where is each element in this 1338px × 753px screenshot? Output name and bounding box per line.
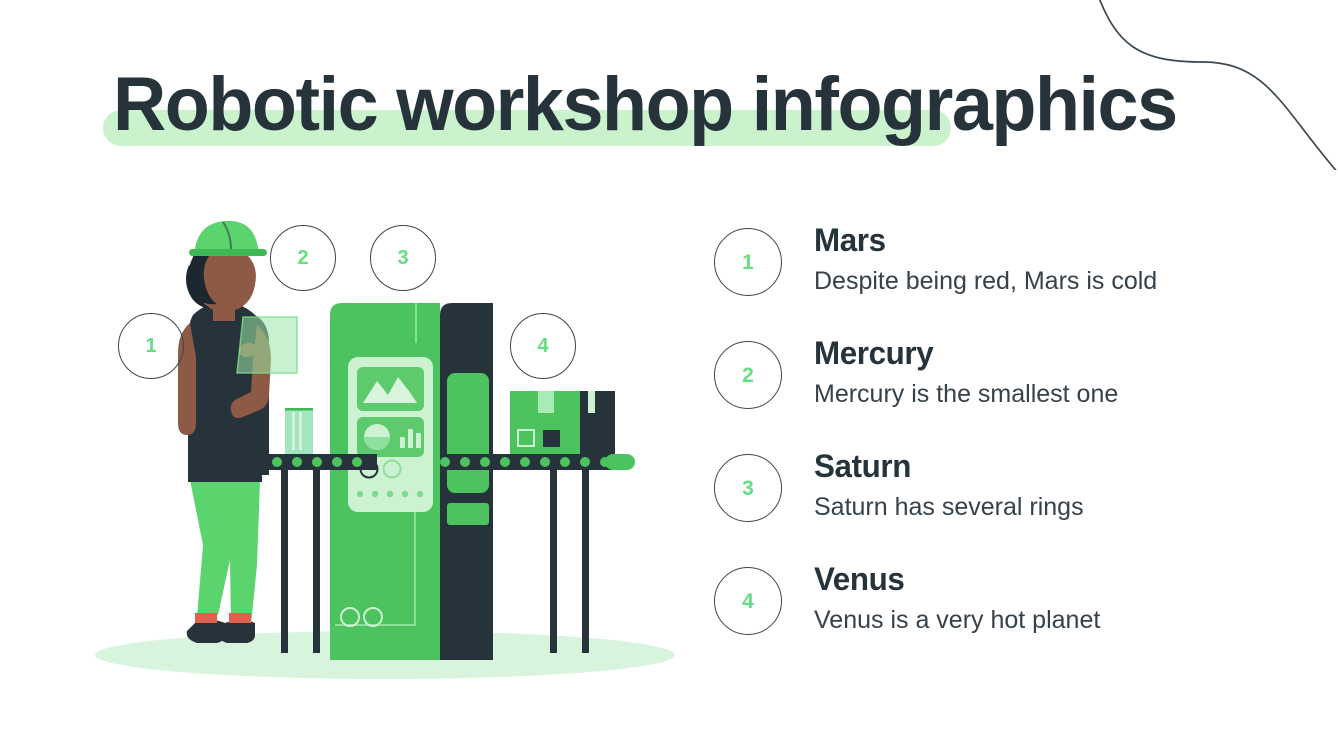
bar-chart-bar-3	[416, 433, 421, 448]
list-heading-3: Saturn	[814, 448, 1078, 484]
list-heading-2: Mercury	[814, 335, 1112, 371]
conveyor-roller	[520, 457, 530, 467]
page-title: Robotic workshop infographics	[103, 60, 1153, 160]
conveyor-roller	[440, 457, 450, 467]
worker-belt	[188, 475, 262, 482]
table-leg	[281, 457, 288, 653]
illustration-marker-4[interactable]: 4	[510, 313, 576, 379]
area-chart-display	[357, 367, 424, 411]
list-number-3: 3	[742, 478, 754, 499]
illustration-marker-3-number: 3	[397, 248, 408, 268]
conveyor-roller	[500, 457, 510, 467]
list-number-badge-2: 2	[714, 341, 782, 409]
clipboard	[237, 317, 297, 373]
glass-highlight	[292, 412, 295, 450]
conveyor-roller	[312, 457, 322, 467]
table-leg	[313, 457, 320, 653]
conveyor-roller	[332, 457, 342, 467]
conveyor-roller	[540, 457, 550, 467]
illustration-marker-2-number: 2	[297, 248, 308, 268]
bar-chart-bar-1	[400, 437, 405, 448]
panel-dot	[372, 491, 378, 497]
list-number-1: 1	[742, 252, 754, 273]
list-description-3: Saturn has several rings	[814, 492, 1084, 522]
worker-sock-right	[229, 613, 251, 623]
list-number-2: 2	[742, 365, 754, 386]
panel-dot	[387, 491, 393, 497]
cardboard-box-side	[580, 391, 615, 454]
list-heading-4: Venus	[814, 561, 1095, 597]
list-body-3: Saturn Saturn has several rings	[814, 448, 1084, 522]
infographic-list: 1 Mars Despite being red, Mars is cold 2…	[714, 222, 1314, 674]
illustration-marker-3[interactable]: 3	[370, 225, 436, 291]
factory-worker-illustration: 1 2 3 4	[85, 205, 705, 685]
list-item-mercury[interactable]: 2 Mercury Mercury is the smallest one	[714, 335, 1314, 448]
worker-trousers	[190, 480, 260, 625]
conveyor-roller	[272, 457, 282, 467]
panel-dot	[402, 491, 408, 497]
box-tape-side	[588, 391, 595, 413]
list-heading-1: Mars	[814, 222, 1150, 258]
list-body-2: Mercury Mercury is the smallest one	[814, 335, 1118, 409]
illustration-marker-1-number: 1	[145, 336, 156, 356]
list-number-4: 4	[742, 591, 754, 612]
slide-canvas: Robotic workshop infographics	[0, 0, 1338, 753]
illustration-marker-1[interactable]: 1	[118, 313, 184, 379]
list-number-badge-1: 1	[714, 228, 782, 296]
hard-hat-brim	[189, 249, 267, 256]
list-body-4: Venus Venus is a very hot planet	[814, 561, 1100, 635]
conveyor-roller	[480, 457, 490, 467]
list-description-4: Venus is a very hot planet	[814, 605, 1100, 635]
box-label-filled	[543, 430, 560, 447]
list-number-badge-4: 4	[714, 567, 782, 635]
box-tape-front	[538, 391, 554, 413]
conveyor-roller	[352, 457, 362, 467]
list-body-1: Mars Despite being red, Mars is cold	[814, 222, 1157, 296]
illustration-marker-2[interactable]: 2	[270, 225, 336, 291]
table-leg	[582, 457, 589, 653]
bar-chart-bar-2	[408, 429, 413, 448]
list-description-1: Despite being red, Mars is cold	[814, 266, 1157, 296]
machine-seam	[415, 303, 417, 343]
glass-highlight	[299, 412, 302, 450]
machine-indicator-bar	[447, 373, 489, 493]
panel-dot	[417, 491, 423, 497]
conveyor-roller	[460, 457, 470, 467]
conveyor-roller	[292, 457, 302, 467]
list-item-venus[interactable]: 4 Venus Venus is a very hot planet	[714, 561, 1314, 674]
conveyor-roller	[600, 457, 610, 467]
worker-sock-left	[195, 613, 217, 623]
panel-dot	[357, 491, 363, 497]
conveyor-roller	[580, 457, 590, 467]
machine-indicator-foot	[447, 503, 489, 525]
conveyor-roller	[560, 457, 570, 467]
title-text: Robotic workshop infographics	[113, 60, 1177, 150]
list-description-2: Mercury is the smallest one	[814, 379, 1118, 409]
list-item-mars[interactable]: 1 Mars Despite being red, Mars is cold	[714, 222, 1314, 335]
glass-rim	[285, 408, 313, 411]
list-item-saturn[interactable]: 3 Saturn Saturn has several rings	[714, 448, 1314, 561]
illustration-marker-4-number: 4	[537, 336, 548, 356]
table-leg	[550, 457, 557, 653]
list-number-badge-3: 3	[714, 454, 782, 522]
